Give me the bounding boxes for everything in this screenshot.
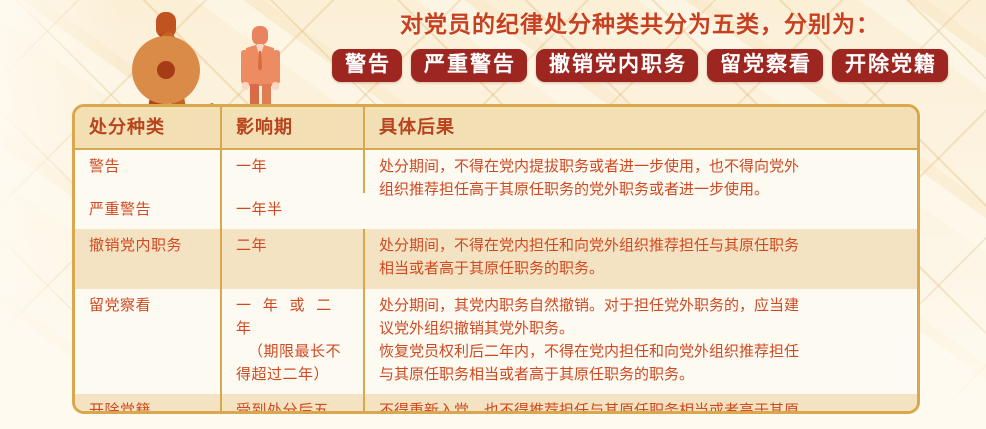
effect-line: 处分期间，不得在党内提拔职务或者进一步使用，也不得向党外 xyxy=(379,156,907,179)
period-line: 二年 xyxy=(236,235,353,258)
period-line: （期限最长不 xyxy=(236,341,353,364)
cell-effect-expulsion: 不得重新入党，也不得推荐担任与其原任职务相当或者高于其原 任职务的党外职务。 xyxy=(364,394,917,414)
effect-line: 组织推荐担任高于其原任职务的党外职务或者进一步使用。 xyxy=(379,179,907,202)
cell-effect-revoke-post: 处分期间，不得在党内担任和向党外组织推荐担任与其原任职务 相当或者高于其原任职务… xyxy=(364,229,917,289)
cell-effect-warning: 处分期间，不得在党内提拔职务或者进一步使用，也不得向党外 组织推荐担任高于其原任… xyxy=(364,149,917,229)
effect-line: 处分期间，其党内职务自然撤销。对于担任党外职务的，应当建 xyxy=(379,295,907,318)
table-row: 警告 一年 处分期间，不得在党内提拔职务或者进一步使用，也不得向党外 组织推荐担… xyxy=(75,149,917,193)
page-title: 对党员的纪律处分种类共分为五类，分别为： xyxy=(300,8,980,42)
period-line: 得超过二年） xyxy=(236,364,353,387)
period-line: 一年 xyxy=(236,156,353,179)
column-header-kind: 处分种类 xyxy=(75,107,221,149)
cell-period-warning: 一年 xyxy=(221,149,364,193)
header-block: 对党员的纪律处分种类共分为五类，分别为： 警告 严重警告 撤销党内职务 留党察看… xyxy=(300,8,980,82)
table-header-row: 处分种类 影响期 具体后果 xyxy=(75,107,917,149)
period-line: 一年半 xyxy=(236,199,354,222)
cell-kind-expulsion: 开除党籍 xyxy=(75,394,221,414)
badge-probation[interactable]: 留党察看 xyxy=(707,49,823,82)
cell-period-severe-warning: 一年半 xyxy=(221,193,364,229)
column-header-period: 影响期 xyxy=(221,107,364,149)
cell-period-expulsion: 受到处分后五 年 xyxy=(221,394,364,414)
cell-kind-probation: 留党察看 xyxy=(75,289,221,394)
badge-revoke-post[interactable]: 撤销党内职务 xyxy=(536,49,698,82)
table-body: 警告 一年 处分期间，不得在党内提拔职务或者进一步使用，也不得向党外 组织推荐担… xyxy=(75,149,917,414)
column-header-effect: 具体后果 xyxy=(364,107,917,149)
discipline-table-card: 处分种类 影响期 具体后果 警告 一年 处分期间，不得在党内提拔职务或者进一步使… xyxy=(72,104,920,414)
punishment-badge-row: 警告 严重警告 撤销党内职务 留党察看 开除党籍 xyxy=(300,49,980,82)
effect-line: 不得重新入党，也不得推荐担任与其原任职务相当或者高于其原 xyxy=(379,400,907,414)
badge-severe-warning[interactable]: 严重警告 xyxy=(411,49,527,82)
badge-expulsion[interactable]: 开除党籍 xyxy=(832,49,948,82)
effect-line: 与其原任职务相当或者高于其原任职务的职务。 xyxy=(379,364,907,387)
cell-period-probation: 一 年 或 二 年 （期限最长不 得超过二年） xyxy=(221,289,364,394)
table-row: 开除党籍 受到处分后五 年 不得重新入党，也不得推荐担任与其原任职务相当或者高于… xyxy=(75,394,917,414)
badge-warning[interactable]: 警告 xyxy=(332,49,402,82)
effect-line: 相当或者高于其原任职务的职务。 xyxy=(379,258,907,281)
table-row: 留党察看 一 年 或 二 年 （期限最长不 得超过二年） 处分期间，其党内职务自… xyxy=(75,289,917,394)
cell-kind-revoke-post: 撤销党内职务 xyxy=(75,229,221,289)
effect-line: 恢复党员权利后二年内，不得在党内担任和向党外组织推荐担任 xyxy=(379,341,907,364)
cell-period-revoke-post: 二年 xyxy=(221,229,364,289)
table-head: 处分种类 影响期 具体后果 xyxy=(75,107,917,149)
infographic-canvas: 对党员的纪律处分种类共分为五类，分别为： 警告 严重警告 撤销党内职务 留党察看… xyxy=(0,0,986,429)
effect-line: 处分期间，不得在党内担任和向党外组织推荐担任与其原任职务 xyxy=(379,235,907,258)
effect-line: 议党外组织撤销其党外职务。 xyxy=(379,318,907,341)
cell-kind-warning: 警告 xyxy=(75,149,221,193)
period-line: 一 年 或 二 年 xyxy=(236,295,353,341)
table-row: 撤销党内职务 二年 处分期间，不得在党内担任和向党外组织推荐担任与其原任职务 相… xyxy=(75,229,917,289)
period-line: 受到处分后五 xyxy=(236,400,353,414)
cell-kind-severe-warning: 严重警告 xyxy=(75,193,221,229)
cell-effect-probation: 处分期间，其党内职务自然撤销。对于担任党外职务的，应当建 议党外组织撤销其党外职… xyxy=(364,289,917,394)
discipline-table: 处分种类 影响期 具体后果 警告 一年 处分期间，不得在党内提拔职务或者进一步使… xyxy=(75,107,917,414)
